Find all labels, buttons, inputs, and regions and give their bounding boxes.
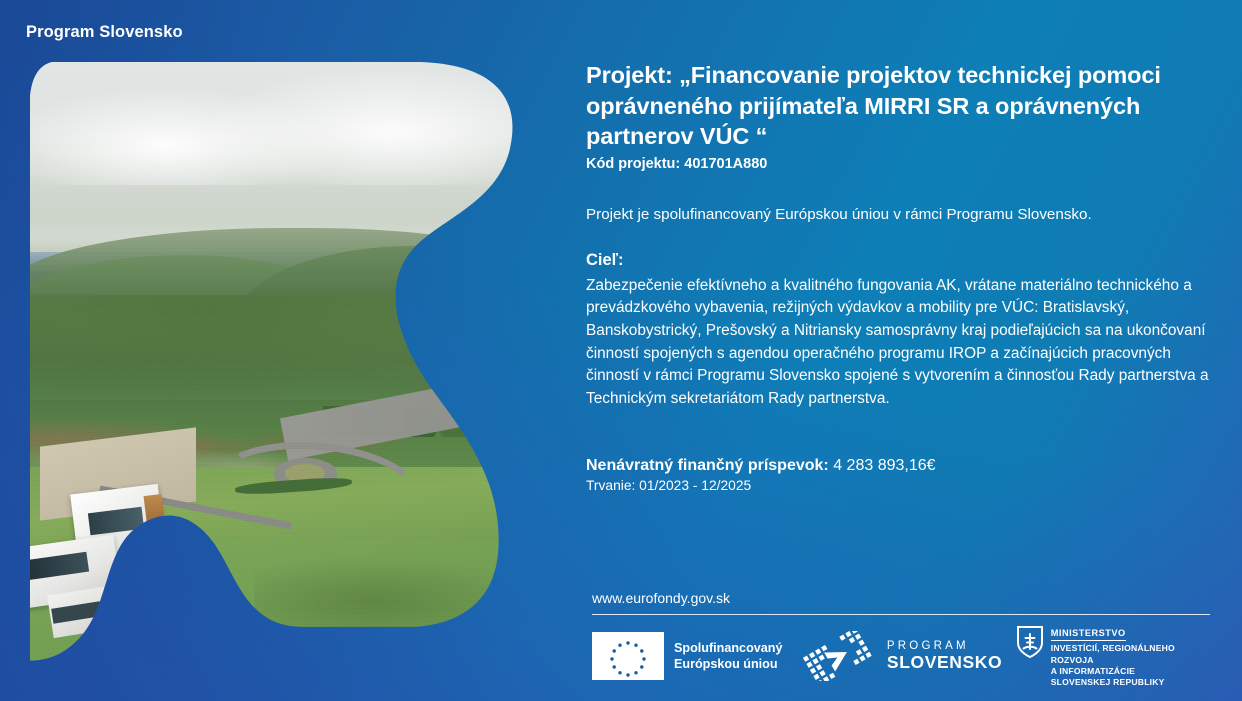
grant-value: 4 283 893,16€ xyxy=(833,457,935,474)
program-slovensko-logo: PROGRAM SLOVENSKO xyxy=(803,631,1016,681)
photo-grain-overlay xyxy=(30,62,518,676)
project-title: Projekt: „Financovanie projektov technic… xyxy=(586,60,1218,152)
aerial-photograph xyxy=(30,62,518,676)
program-slovensko-project-poster: Program Slovensko xyxy=(0,0,1242,701)
ministry-line1: MINISTERSTVO xyxy=(1051,628,1126,641)
project-photo xyxy=(30,62,518,676)
project-duration: Trvanie: 01/2023 - 12/2025 xyxy=(586,478,1218,493)
footer-divider xyxy=(592,614,1210,615)
goal-text: Zabezpečenie efektívneho a kvalitného fu… xyxy=(586,275,1216,411)
program-slovensko-line1: PROGRAM xyxy=(887,640,1002,652)
eu-stars-icon xyxy=(592,632,664,680)
website-link[interactable]: www.eurofondy.gov.sk xyxy=(592,590,730,606)
ministry-wordmark: MINISTERSTVO INVESTÍCIÍ, REGIONÁLNEHO RO… xyxy=(1051,623,1212,689)
cofinancing-statement: Projekt je spolufinancovaný Európskou ún… xyxy=(586,205,1218,225)
eu-cofinancing-logo: Spolufinancovaný Európskou úniou xyxy=(592,632,803,680)
grant-amount-row: Nenávratný finančný príspevok: 4 283 893… xyxy=(586,456,1218,476)
project-code: Kód projektu: 401701A880 xyxy=(586,156,1218,173)
goal-heading: Cieľ: xyxy=(586,251,1218,270)
grant-label: Nenávratný finančný príspevok: xyxy=(586,457,829,474)
eu-logo-text: Spolufinancovaný Európskou úniou xyxy=(674,640,782,672)
eu-flag-icon xyxy=(592,632,664,680)
slovak-coat-of-arms-icon xyxy=(1016,625,1044,659)
page-title: Program Slovensko xyxy=(26,23,183,42)
program-slovensko-line2: SLOVENSKO xyxy=(887,653,1002,672)
project-info-panel: Projekt: „Financovanie projektov technic… xyxy=(586,60,1218,493)
program-slovensko-arrow-icon xyxy=(803,631,877,681)
footer-logos: Spolufinancovaný Európskou úniou xyxy=(592,626,1212,686)
ministry-line-rest: INVESTÍCIÍ, REGIONÁLNEHO ROZVOJA A INFOR… xyxy=(1051,643,1212,689)
ministry-logo: MINISTERSTVO INVESTÍCIÍ, REGIONÁLNEHO RO… xyxy=(1016,623,1212,689)
program-slovensko-wordmark: PROGRAM SLOVENSKO xyxy=(887,640,1002,671)
